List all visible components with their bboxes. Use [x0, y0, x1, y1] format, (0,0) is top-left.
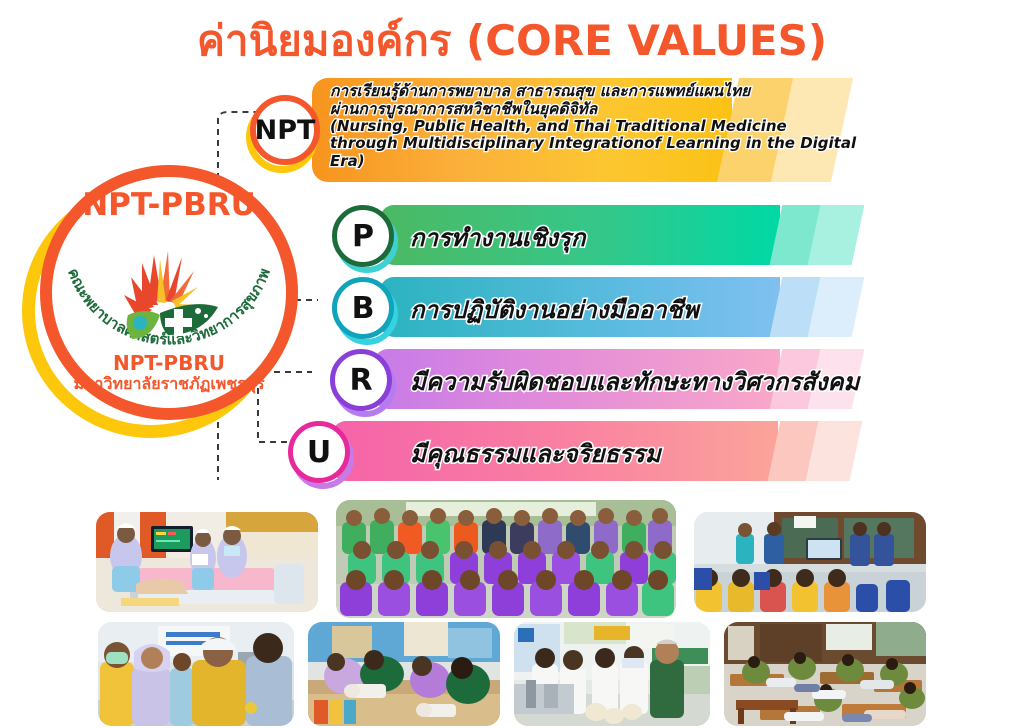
- photo-gallery: [96, 500, 1024, 728]
- value-label-r: มีความรับผิดชอบและทักษะทางวิศวกรสังคม: [410, 362, 859, 401]
- badge-b-letter: B: [352, 291, 375, 326]
- value-label-b: การปฏิบัติงานอย่างมืออาชีพ: [410, 290, 699, 329]
- photo-cpr-training[interactable]: [308, 622, 500, 726]
- value-label-u: มีคุณธรรมและจริยธรรม: [410, 434, 661, 473]
- photo-exhibition-demo[interactable]: [514, 622, 710, 726]
- badge-p[interactable]: P: [332, 205, 394, 267]
- logo-emblem: [102, 247, 236, 357]
- badge-npt-letter: NPT: [255, 115, 316, 146]
- value-row-r[interactable]: มีความรับผิดชอบและทักษะทางวิศวกรสังคม: [374, 349, 934, 409]
- photo-community-group[interactable]: [336, 500, 676, 618]
- logo-university: มหาวิทยาลัยราชภัฏเพชรบุรี: [40, 372, 298, 397]
- badge-p-letter: P: [352, 219, 374, 254]
- photo-health-education-session[interactable]: [694, 512, 926, 612]
- value-row-u[interactable]: มีคุณธรรมและจริยธรรม: [332, 421, 892, 481]
- photo-thai-massage-practice[interactable]: [724, 622, 926, 726]
- value-label-npt: การเรียนรู้ด้านการพยาบาล สาธารณสุข และกา…: [330, 83, 870, 170]
- photo-home-visit-elderly[interactable]: [98, 622, 294, 726]
- value-label-npt-th-2: ผ่านการบูรณาการสหวิชาชีพในยุคดิจิทัล: [330, 101, 870, 119]
- value-label-npt-en-1: (Nursing, Public Health, and Thai Tradit…: [330, 118, 870, 135]
- value-row-npt[interactable]: การเรียนรู้ด้านการพยาบาล สาธารณสุข และกา…: [312, 78, 872, 182]
- logo-inner: NPT-PBRU คณะพยาบาลศาสตร์และวิทยาการสุขภา…: [40, 165, 298, 420]
- badge-r[interactable]: R: [330, 349, 392, 411]
- badge-npt[interactable]: NPT: [250, 95, 320, 165]
- infographic-canvas: ค่านิยมองค์กร (CORE VALUES) NPT-PBRU คณะ…: [0, 0, 1024, 728]
- badge-u[interactable]: U: [288, 421, 350, 483]
- value-row-p[interactable]: การทำงานเชิงรุก: [380, 205, 940, 265]
- value-row-b[interactable]: การปฏิบัติงานอย่างมืออาชีพ: [380, 277, 940, 337]
- badge-u-letter: U: [307, 435, 331, 470]
- npt-pbru-logo: NPT-PBRU คณะพยาบาลศาสตร์และวิทยาการสุขภา…: [22, 165, 300, 440]
- badge-b[interactable]: B: [332, 277, 394, 339]
- value-label-p: การทำงานเชิงรุก: [410, 218, 585, 257]
- value-label-npt-en-2: through Multidisciplinary Integrationof …: [330, 135, 870, 169]
- badge-r-letter: R: [349, 363, 372, 398]
- value-label-npt-th-1: การเรียนรู้ด้านการพยาบาล สาธารณสุข และกา…: [330, 83, 870, 101]
- photo-nursing-simulation-lab[interactable]: [96, 512, 318, 612]
